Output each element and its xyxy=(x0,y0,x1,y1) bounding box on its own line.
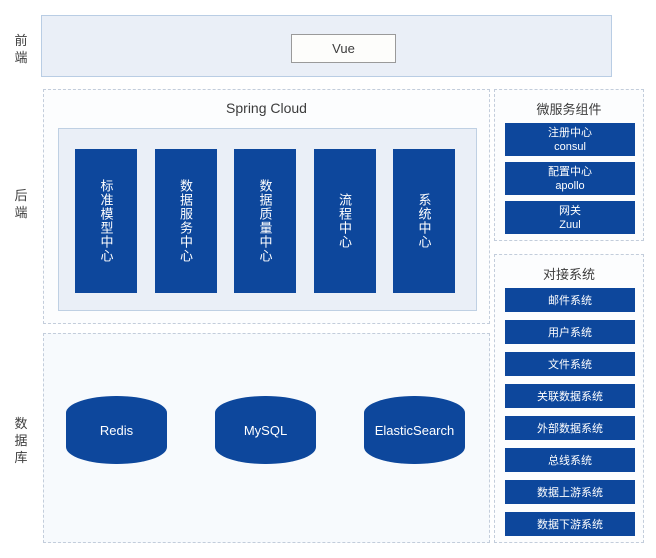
service-center-label: 流程中心 xyxy=(336,193,353,249)
docking-system-item[interactable]: 邮件系统 xyxy=(505,288,635,312)
docking-system-label: 用户系统 xyxy=(548,324,592,340)
backend-section: Spring Cloud 标准模型中心数据服务中心数据质量中心流程中心系统中心 xyxy=(43,89,490,324)
microservice-component-tech: apollo xyxy=(555,179,584,193)
service-center-label: 数据服务中心 xyxy=(177,179,194,263)
microservice-component-item[interactable]: 网关Zuul xyxy=(505,201,635,234)
row-label-frontend: 前 端 xyxy=(4,32,38,66)
service-center-1[interactable]: 标准模型中心 xyxy=(75,149,137,293)
microservice-component-name: 网关 xyxy=(559,204,581,218)
service-center-panel: 标准模型中心数据服务中心数据质量中心流程中心系统中心 xyxy=(58,128,477,311)
database-label: Redis xyxy=(100,423,133,438)
row-label-backend: 后 端 xyxy=(4,187,38,221)
database-cylinder-redis[interactable]: Redis xyxy=(66,396,167,464)
architecture-diagram: 前 端 后 端 数 据 库 Vue Spring Cloud 标准模型中心数据服… xyxy=(0,0,656,558)
microservice-components-title: 微服务组件 xyxy=(495,99,643,118)
database-label: MySQL xyxy=(244,423,287,438)
microservice-components-panel: 微服务组件 注册中心consul配置中心apollo网关Zuul xyxy=(494,89,644,241)
docking-system-label: 数据上游系统 xyxy=(537,484,603,500)
docking-system-label: 关联数据系统 xyxy=(537,388,603,404)
docking-system-item[interactable]: 关联数据系统 xyxy=(505,384,635,408)
docking-systems-panel: 对接系统 邮件系统用户系统文件系统关联数据系统外部数据系统总线系统数据上游系统数… xyxy=(494,254,644,543)
docking-system-label: 总线系统 xyxy=(548,452,592,468)
docking-system-item[interactable]: 外部数据系统 xyxy=(505,416,635,440)
microservice-component-item[interactable]: 配置中心apollo xyxy=(505,162,635,195)
docking-system-item[interactable]: 数据下游系统 xyxy=(505,512,635,536)
service-center-label: 数据质量中心 xyxy=(257,179,274,263)
service-center-label: 标准模型中心 xyxy=(98,179,115,263)
docking-system-label: 数据下游系统 xyxy=(537,516,603,532)
microservice-component-name: 配置中心 xyxy=(548,165,592,179)
spring-cloud-title: Spring Cloud xyxy=(44,100,489,116)
docking-system-item[interactable]: 总线系统 xyxy=(505,448,635,472)
microservice-component-tech: consul xyxy=(554,140,586,154)
docking-system-label: 文件系统 xyxy=(548,356,592,372)
database-cylinder-mysql[interactable]: MySQL xyxy=(215,396,316,464)
service-center-3[interactable]: 数据质量中心 xyxy=(234,149,296,293)
database-section: RedisMySQLElasticSearch xyxy=(43,333,490,543)
docking-systems-title: 对接系统 xyxy=(495,264,643,283)
docking-system-label: 邮件系统 xyxy=(548,292,592,308)
docking-system-item[interactable]: 文件系统 xyxy=(505,352,635,376)
service-center-5[interactable]: 系统中心 xyxy=(393,149,455,293)
docking-system-item[interactable]: 数据上游系统 xyxy=(505,480,635,504)
microservice-component-item[interactable]: 注册中心consul xyxy=(505,123,635,156)
database-cylinder-elasticsearch[interactable]: ElasticSearch xyxy=(364,396,465,464)
row-label-database: 数 据 库 xyxy=(4,415,38,466)
service-center-2[interactable]: 数据服务中心 xyxy=(155,149,217,293)
frontend-vue-box[interactable]: Vue xyxy=(291,34,396,63)
microservice-component-name: 注册中心 xyxy=(548,126,592,140)
frontend-section: Vue xyxy=(41,15,612,77)
service-center-4[interactable]: 流程中心 xyxy=(314,149,376,293)
database-label: ElasticSearch xyxy=(375,423,454,438)
docking-system-item[interactable]: 用户系统 xyxy=(505,320,635,344)
microservice-components-list: 注册中心consul配置中心apollo网关Zuul xyxy=(505,123,635,240)
docking-systems-list: 邮件系统用户系统文件系统关联数据系统外部数据系统总线系统数据上游系统数据下游系统 xyxy=(505,288,635,544)
service-center-label: 系统中心 xyxy=(416,193,433,249)
microservice-component-tech: Zuul xyxy=(559,218,580,232)
docking-system-label: 外部数据系统 xyxy=(537,420,603,436)
